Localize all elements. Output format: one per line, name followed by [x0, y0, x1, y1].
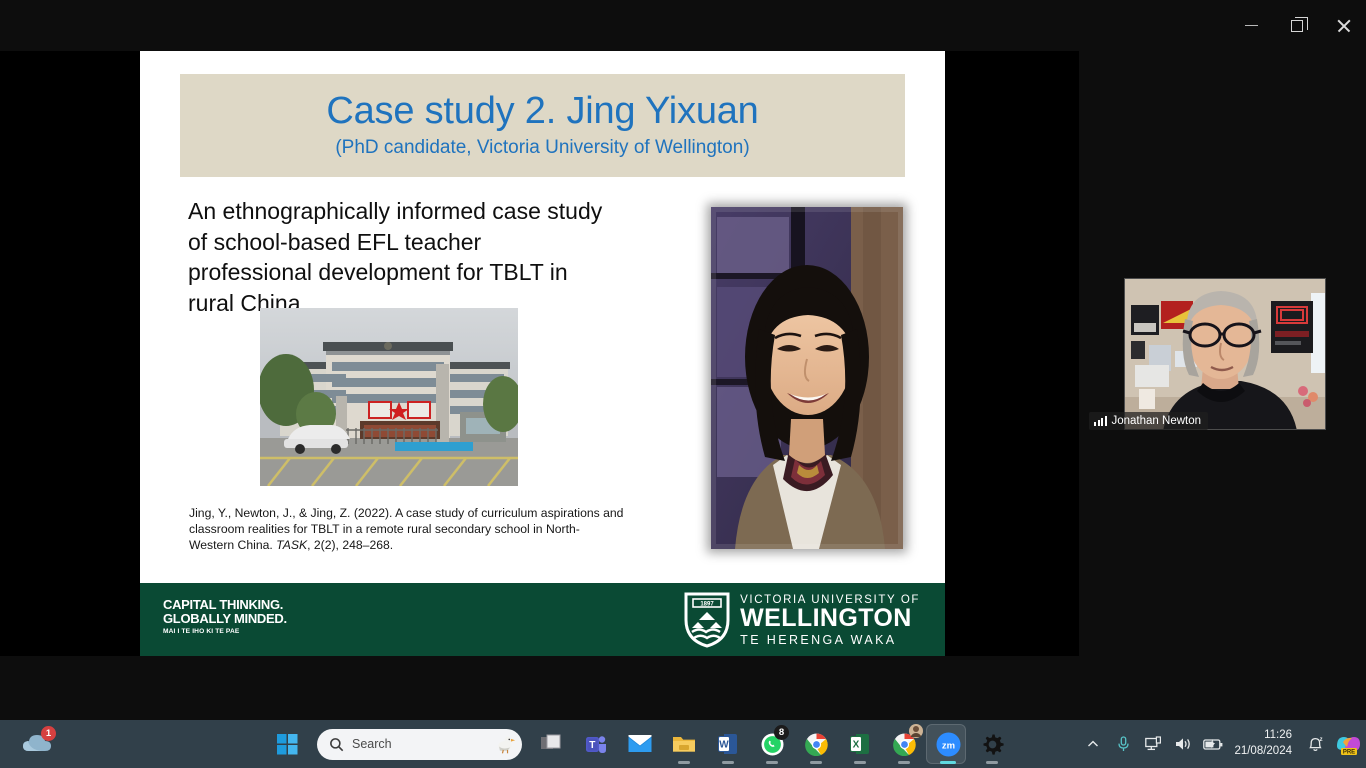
volume-button[interactable] — [1168, 720, 1198, 768]
svg-text:z: z — [1319, 737, 1322, 743]
taskbar-running-indicator — [898, 761, 910, 764]
citation-text: Jing, Y., Newton, J., & Jing, Z. (2022).… — [189, 505, 624, 554]
windows-logo-icon — [277, 734, 298, 755]
university-tagline: CAPITAL THINKING. GLOBALLY MINDED. MAI I… — [163, 598, 287, 635]
search-icon — [329, 737, 344, 752]
svg-text:T: T — [589, 740, 595, 751]
weather-widget[interactable]: 1 — [12, 720, 62, 768]
bird-icon — [494, 733, 516, 755]
taskbar-running-indicator — [810, 761, 822, 764]
taskbar-item-task-view[interactable] — [530, 720, 574, 768]
taskbar-item-whatsapp[interactable]: 8 — [750, 720, 794, 768]
clock-time: 11:26 — [1234, 728, 1292, 744]
taskbar-running-indicator — [940, 761, 956, 764]
system-tray: 11:26 21/08/2024 z PRE — [1078, 720, 1366, 768]
svg-text:zm: zm — [941, 740, 954, 751]
notifications-muted-icon: z — [1307, 735, 1324, 753]
zoom-icon: zm — [936, 732, 961, 757]
close-icon — [1336, 18, 1351, 33]
microphone-button[interactable] — [1108, 720, 1138, 768]
copilot-icon: PRE — [1335, 732, 1361, 756]
svg-text:PRE: PRE — [1343, 750, 1355, 756]
restore-button[interactable] — [1274, 0, 1320, 51]
network-button[interactable] — [1138, 720, 1168, 768]
svg-text:X: X — [852, 740, 859, 751]
minimize-button[interactable] — [1228, 0, 1274, 51]
taskbar-item-word[interactable]: W — [706, 720, 750, 768]
taskbar-item-chrome-profile[interactable] — [882, 720, 926, 768]
taskbar-running-indicator — [854, 761, 866, 764]
tagline-line-2: GLOBALLY MINDED. — [163, 612, 287, 626]
microphone-icon — [1116, 736, 1131, 752]
taskbar-item-mail[interactable] — [618, 720, 662, 768]
windows-taskbar: 1 Search — [0, 720, 1366, 768]
presentation-slide: Case study 2. Jing Yixuan (PhD candidate… — [140, 51, 945, 656]
close-button[interactable] — [1320, 0, 1366, 51]
logo-line-3: TE HERENGA WAKA — [740, 633, 920, 647]
taskbar-item-excel[interactable]: X — [838, 720, 882, 768]
taskbar-running-indicator — [678, 761, 690, 764]
logo-line-2: WELLINGTON — [740, 606, 920, 632]
task-view-icon — [541, 733, 563, 755]
taskbar-running-indicator — [766, 761, 778, 764]
slide-footer-banner: CAPITAL THINKING. GLOBALLY MINDED. MAI I… — [140, 583, 945, 656]
gear-icon — [981, 733, 1004, 756]
participant-name-badge: Jonathan Newton — [1089, 412, 1208, 430]
clock[interactable]: 11:26 21/08/2024 — [1228, 728, 1300, 759]
taskbar-running-indicator — [986, 761, 998, 764]
battery-button[interactable] — [1198, 720, 1228, 768]
mail-icon — [628, 734, 652, 754]
whatsapp-badge: 8 — [774, 725, 789, 740]
restore-icon — [1291, 20, 1303, 32]
tagline-line-1: CAPITAL THINKING. — [163, 598, 287, 612]
slide-body-text: An ethnographically informed case study … — [188, 196, 608, 318]
signal-bars-icon — [1094, 416, 1107, 426]
slide-title: Case study 2. Jing Yixuan — [326, 92, 758, 132]
window-title-bar — [0, 0, 1366, 51]
chevron-up-icon — [1087, 738, 1099, 750]
svg-text:1897: 1897 — [700, 602, 714, 608]
notifications-button[interactable]: z — [1300, 720, 1330, 768]
video-participant-tile[interactable] — [1124, 278, 1326, 430]
taskbar-center-group: Search T — [265, 720, 1014, 768]
weather-badge: 1 — [41, 726, 56, 741]
minimize-icon — [1245, 25, 1258, 27]
show-hidden-icons-button[interactable] — [1078, 720, 1108, 768]
teams-icon: T — [585, 733, 608, 756]
presenter-portrait-photo — [711, 207, 903, 549]
clock-date: 21/08/2024 — [1234, 744, 1292, 760]
tagline-line-3: MAI I TE IHO KI TE PAE — [163, 628, 287, 635]
search-placeholder: Search — [352, 737, 486, 751]
taskbar-item-teams[interactable]: T — [574, 720, 618, 768]
svg-text:W: W — [719, 740, 729, 751]
taskbar-item-settings[interactable] — [970, 720, 1014, 768]
word-icon: W — [718, 733, 739, 755]
school-building-photo — [260, 308, 518, 486]
start-button[interactable] — [265, 720, 309, 768]
folder-icon — [672, 734, 696, 754]
university-logo: 1897 VICTORIA UNIVERSITY OF WELLINGTON T… — [684, 592, 920, 648]
shared-screen-viewport: Case study 2. Jing Yixuan (PhD candidate… — [0, 51, 1079, 656]
network-icon — [1145, 736, 1162, 752]
battery-charging-icon — [1203, 738, 1223, 751]
taskbar-item-chrome[interactable] — [794, 720, 838, 768]
profile-avatar-icon — [909, 724, 923, 738]
volume-icon — [1175, 736, 1192, 752]
taskbar-item-file-explorer[interactable] — [662, 720, 706, 768]
slide-title-banner: Case study 2. Jing Yixuan (PhD candidate… — [180, 74, 905, 177]
participant-name: Jonathan Newton — [1112, 415, 1202, 427]
excel-icon: X — [850, 733, 871, 755]
citation-part-1: Jing, Y., Newton, J., & Jing, Z. (2022).… — [189, 506, 623, 552]
copilot-button[interactable]: PRE — [1330, 720, 1366, 768]
chrome-icon — [805, 733, 828, 756]
citation-part-2: , 2(2), 248–268. — [307, 538, 393, 552]
citation-journal: TASK — [276, 538, 307, 552]
shield-icon: 1897 — [684, 592, 730, 648]
taskbar-item-zoom[interactable]: zm — [926, 720, 970, 768]
taskbar-running-indicator — [722, 761, 734, 764]
slide-subtitle: (PhD candidate, Victoria University of W… — [335, 137, 749, 159]
search-input[interactable]: Search — [317, 729, 522, 760]
